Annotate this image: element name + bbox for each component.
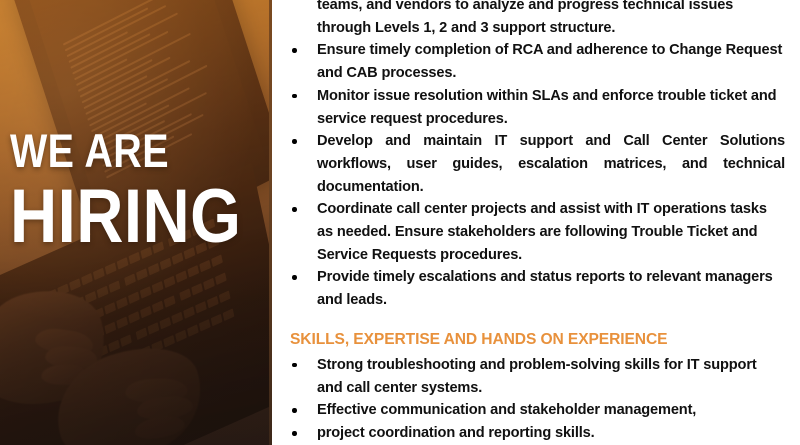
bullet-text: project coordination and reporting skill… bbox=[317, 425, 595, 441]
bullet-text: teams, and vendors to analyze and progre… bbox=[317, 0, 733, 36]
responsibilities-list: teams, and vendors to analyze and progre… bbox=[285, 0, 785, 312]
hero-headline-line-1: WE ARE bbox=[10, 126, 230, 176]
job-description-content: teams, and vendors to analyze and progre… bbox=[272, 0, 800, 445]
skills-section-heading: SKILLS, EXPERTISE AND HANDS ON EXPERIENC… bbox=[290, 329, 785, 351]
bullet-text: Provide timely escalations and status re… bbox=[317, 269, 773, 308]
responsibility-escalations-status-reports: Provide timely escalations and status re… bbox=[285, 266, 785, 311]
bullet-text: Ensure timely completion of RCA and adhe… bbox=[317, 42, 782, 81]
skill-communication: Effective communication and stakeholder … bbox=[285, 399, 785, 422]
bullet-text: Coordinate call center projects and assi… bbox=[317, 201, 767, 262]
bullet-text: Strong troubleshooting and problem-solvi… bbox=[317, 357, 757, 396]
bullet-text: Develop and maintain IT support and Call… bbox=[317, 130, 785, 198]
job-posting-poster: WE ARE HIRING teams, and vendors to anal… bbox=[0, 0, 800, 445]
hero-headline: WE ARE HIRING bbox=[10, 126, 272, 256]
hero-headline-line-2: HIRING bbox=[10, 178, 235, 256]
skill-project-coordination: project coordination and reporting skill… bbox=[285, 422, 785, 445]
skill-troubleshooting: Strong troubleshooting and problem-solvi… bbox=[285, 354, 785, 399]
responsibility-continuation: teams, and vendors to analyze and progre… bbox=[285, 0, 785, 39]
responsibilities-block: teams, and vendors to analyze and progre… bbox=[285, 0, 785, 312]
bullet-text: Monitor issue resolution within SLAs and… bbox=[317, 88, 776, 127]
hero-panel: WE ARE HIRING bbox=[0, 0, 272, 445]
responsibility-sla-monitoring: Monitor issue resolution within SLAs and… bbox=[285, 85, 785, 130]
bullet-text: Effective communication and stakeholder … bbox=[317, 402, 696, 418]
skills-list: Strong troubleshooting and problem-solvi… bbox=[285, 354, 785, 445]
responsibility-call-center-projects: Coordinate call center projects and assi… bbox=[285, 198, 785, 266]
responsibility-workflows-documentation: Develop and maintain IT support and Call… bbox=[285, 130, 785, 198]
responsibility-rca-cab: Ensure timely completion of RCA and adhe… bbox=[285, 39, 785, 84]
